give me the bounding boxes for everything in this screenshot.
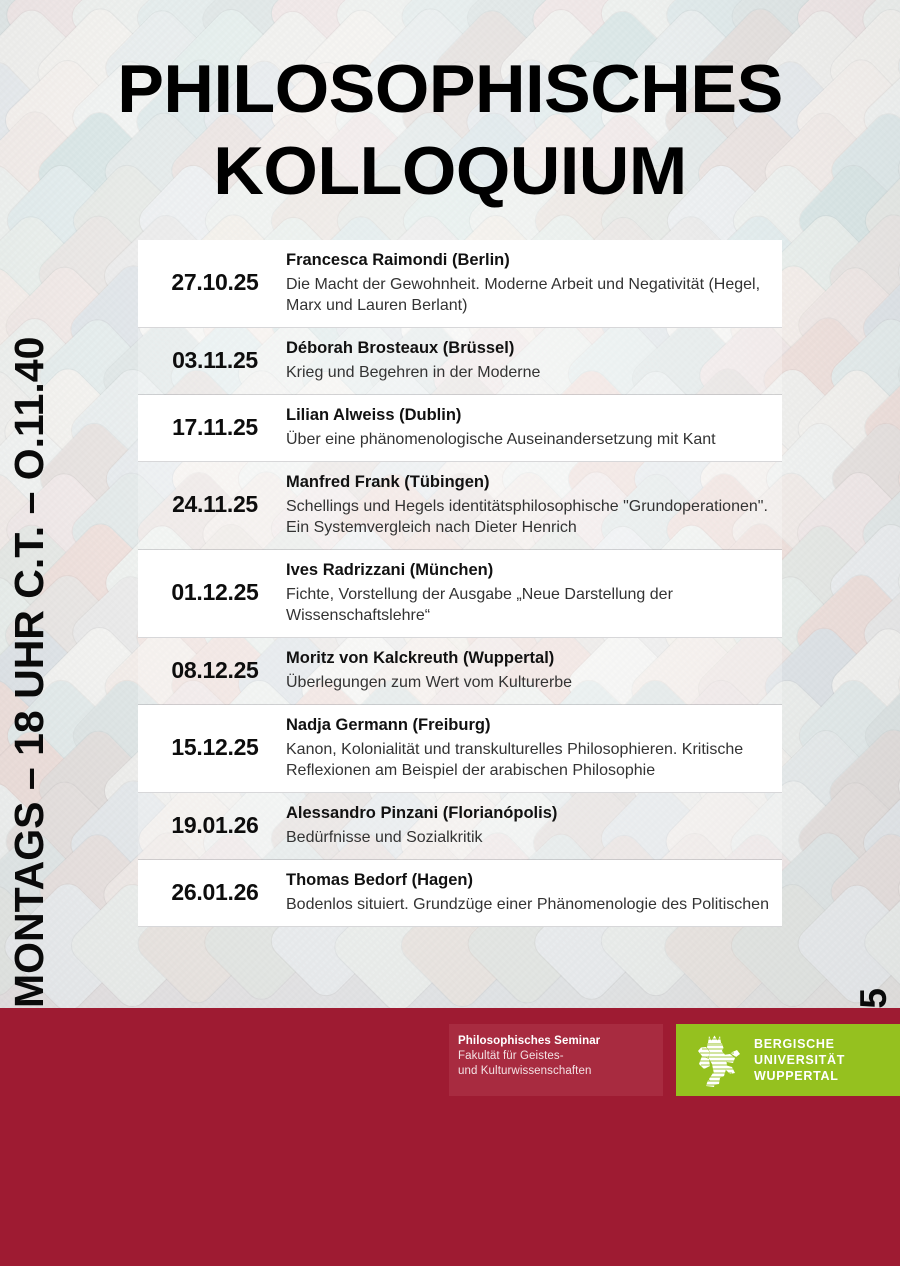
row-speaker: Francesca Raimondi (Berlin) xyxy=(286,249,772,271)
row-date: 08.12.25 xyxy=(148,657,286,684)
row-speaker: Manfred Frank (Tübingen) xyxy=(286,471,772,493)
table-row: 03.11.25Déborah Brosteaux (Brüssel)Krieg… xyxy=(138,328,782,395)
row-topic: Kanon, Kolonialität und transkulturelles… xyxy=(286,739,772,781)
row-date: 27.10.25 xyxy=(148,269,286,296)
row-date: 01.12.25 xyxy=(148,579,286,606)
seminar-name: Philosophisches Seminar xyxy=(458,1034,663,1049)
bergischer-loewe-icon xyxy=(690,1033,742,1087)
row-body: Moritz von Kalckreuth (Wuppertal)Überleg… xyxy=(286,647,772,693)
row-body: Francesca Raimondi (Berlin)Die Macht der… xyxy=(286,249,772,316)
seminar-logo-box: Philosophisches Seminar Fakultät für Gei… xyxy=(449,1024,663,1096)
row-body: Nadja Germann (Freiburg)Kanon, Koloniali… xyxy=(286,714,772,781)
row-date: 24.11.25 xyxy=(148,491,286,518)
title-line-2: KOLLOQUIUM xyxy=(0,130,900,212)
row-date: 03.11.25 xyxy=(148,347,286,374)
row-date: 19.01.26 xyxy=(148,812,286,839)
row-topic: Schellings und Hegels identitätsphilosop… xyxy=(286,496,772,538)
row-speaker: Ives Radrizzani (München) xyxy=(286,559,772,581)
faculty-line-2: und Kulturwissenschaften xyxy=(458,1064,663,1079)
row-topic: Bedürfnisse und Sozialkritik xyxy=(286,827,772,848)
footer-band: Philosophisches Seminar Fakultät für Gei… xyxy=(0,1008,900,1266)
row-date: 15.12.25 xyxy=(148,734,286,761)
faculty-line-1: Fakultät für Geistes- xyxy=(458,1049,663,1064)
row-topic: Bodenlos situiert. Grundzüge einer Phäno… xyxy=(286,894,772,915)
row-body: Thomas Bedorf (Hagen)Bodenlos situiert. … xyxy=(286,869,772,915)
row-date: 26.01.26 xyxy=(148,879,286,906)
row-topic: Fichte, Vorstellung der Ausgabe „Neue Da… xyxy=(286,584,772,626)
table-row: 17.11.25Lilian Alweiss (Dublin)Über eine… xyxy=(138,395,782,462)
table-row: 24.11.25Manfred Frank (Tübingen)Schellin… xyxy=(138,462,782,550)
table-row: 08.12.25Moritz von Kalckreuth (Wuppertal… xyxy=(138,638,782,705)
row-date: 17.11.25 xyxy=(148,414,286,441)
row-speaker: Nadja Germann (Freiburg) xyxy=(286,714,772,736)
table-row: 27.10.25Francesca Raimondi (Berlin)Die M… xyxy=(138,240,782,328)
university-line-3: WUPPERTAL xyxy=(754,1068,845,1084)
row-topic: Überlegungen zum Wert vom Kulturerbe xyxy=(286,672,772,693)
row-topic: Die Macht der Gewohnheit. Moderne Arbeit… xyxy=(286,274,772,316)
row-speaker: Thomas Bedorf (Hagen) xyxy=(286,869,772,891)
row-topic: Krieg und Begehren in der Moderne xyxy=(286,362,772,383)
poster-root: PHILOSOPHISCHES KOLLOQUIUM MONTAGS – 18 … xyxy=(0,0,900,1266)
schedule-table: 27.10.25Francesca Raimondi (Berlin)Die M… xyxy=(138,240,782,927)
row-body: Ives Radrizzani (München)Fichte, Vorstel… xyxy=(286,559,772,626)
university-name: BERGISCHE UNIVERSITÄT WUPPERTAL xyxy=(754,1036,845,1084)
university-line-2: UNIVERSITÄT xyxy=(754,1052,845,1068)
university-logo-box: BERGISCHE UNIVERSITÄT WUPPERTAL xyxy=(676,1024,900,1096)
poster-title: PHILOSOPHISCHES KOLLOQUIUM xyxy=(0,48,900,212)
row-body: Lilian Alweiss (Dublin)Über eine phänome… xyxy=(286,404,772,450)
row-speaker: Lilian Alweiss (Dublin) xyxy=(286,404,772,426)
row-topic: Über eine phänomenologische Auseinanders… xyxy=(286,429,772,450)
table-row: 19.01.26Alessandro Pinzani (Florianópoli… xyxy=(138,793,782,860)
row-body: Manfred Frank (Tübingen)Schellings und H… xyxy=(286,471,772,538)
table-row: 26.01.26Thomas Bedorf (Hagen)Bodenlos si… xyxy=(138,860,782,927)
row-speaker: Alessandro Pinzani (Florianópolis) xyxy=(286,802,772,824)
row-body: Déborah Brosteaux (Brüssel)Krieg und Beg… xyxy=(286,337,772,383)
row-body: Alessandro Pinzani (Florianópolis)Bedürf… xyxy=(286,802,772,848)
title-line-1: PHILOSOPHISCHES xyxy=(0,48,900,130)
university-line-1: BERGISCHE xyxy=(754,1036,845,1052)
row-speaker: Moritz von Kalckreuth (Wuppertal) xyxy=(286,647,772,669)
row-speaker: Déborah Brosteaux (Brüssel) xyxy=(286,337,772,359)
table-row: 15.12.25Nadja Germann (Freiburg)Kanon, K… xyxy=(138,705,782,793)
table-row: 01.12.25Ives Radrizzani (München)Fichte,… xyxy=(138,550,782,638)
